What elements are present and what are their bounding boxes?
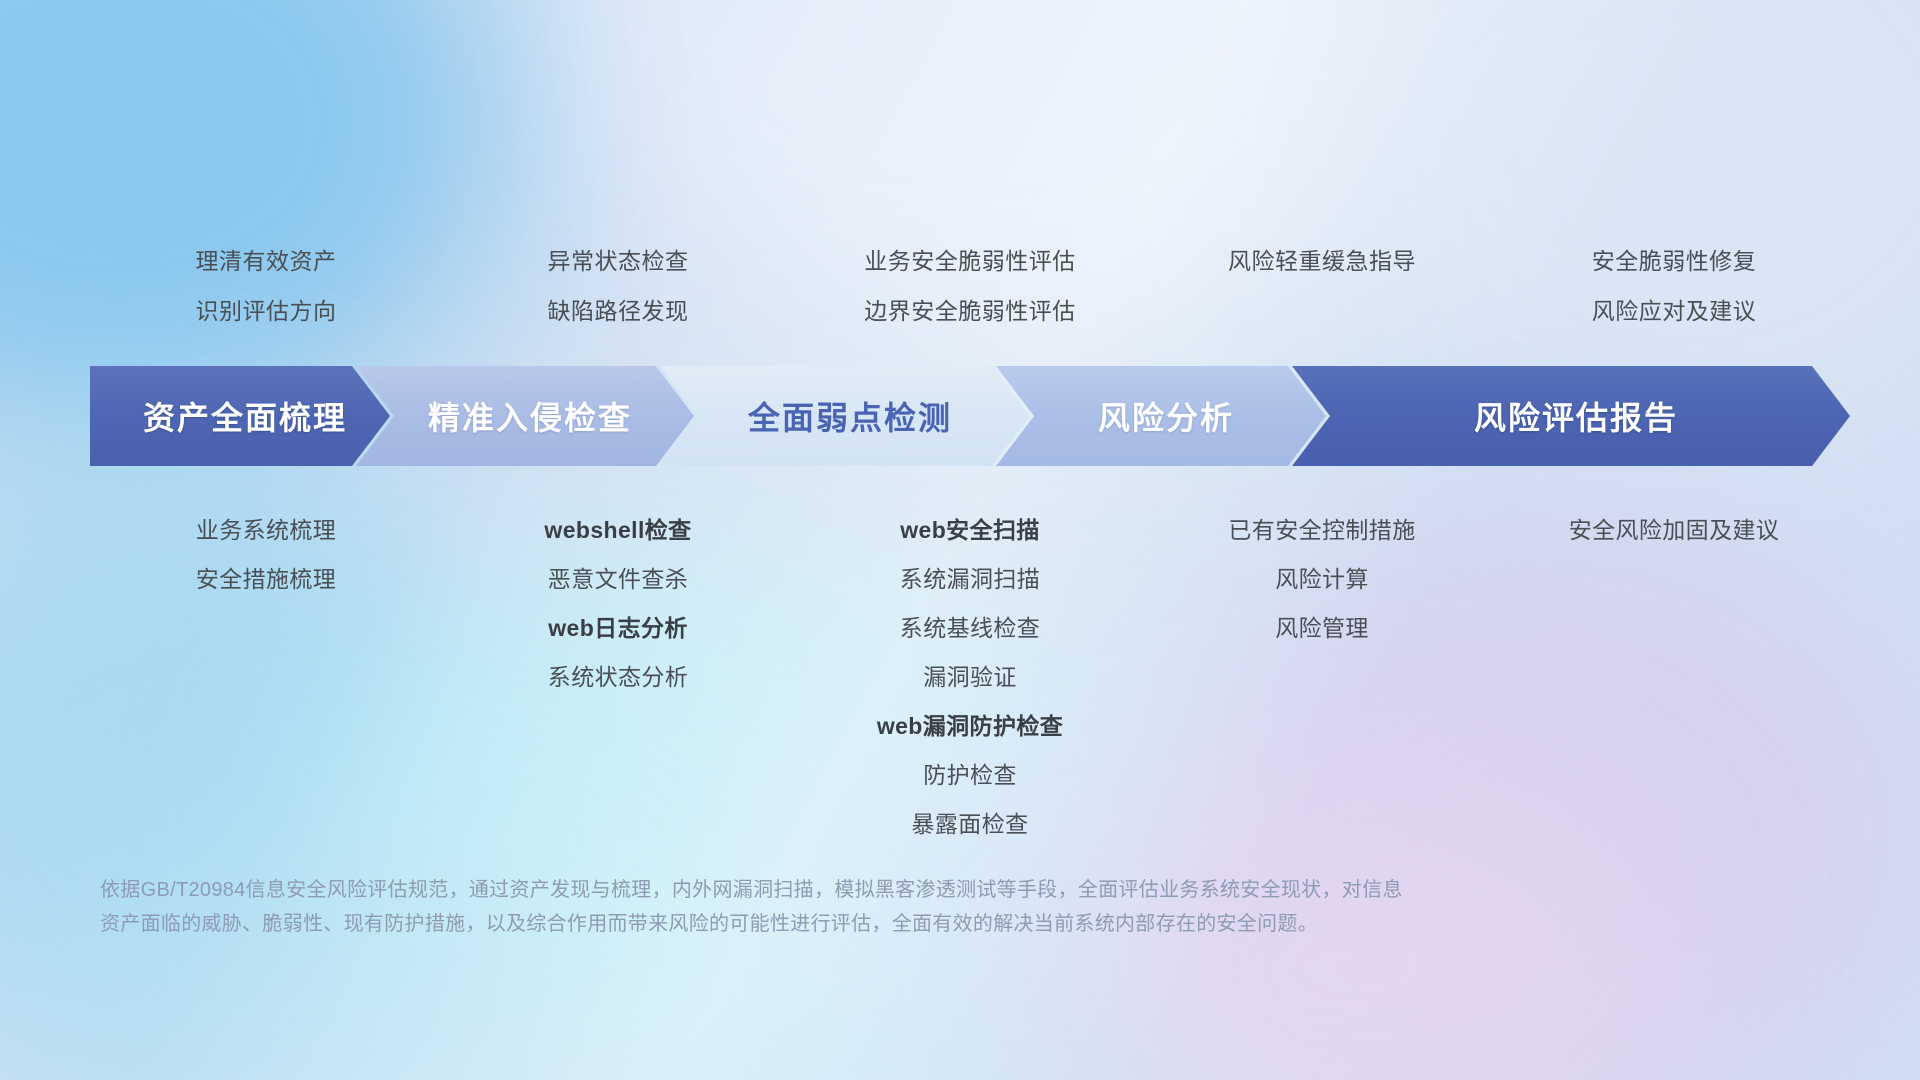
footer-description: 依据GB/T20984信息安全风险评估规范，通过资产发现与梳理，内外网漏洞扫描，…	[100, 873, 1660, 941]
bottom-caption-line: 漏洞验证	[794, 653, 1146, 702]
top-caption-group-4: 风险轻重缓急指导	[1146, 236, 1498, 286]
bottom-caption-line: 业务系统梳理	[90, 506, 442, 555]
bottom-caption-line: web安全扫描	[794, 506, 1146, 555]
bottom-caption-line: 恶意文件查杀	[442, 555, 794, 604]
footer-line-1: 依据GB/T20984信息安全风险评估规范，通过资产发现与梳理，内外网漏洞扫描，…	[100, 873, 1660, 907]
bottom-caption-line: 风险计算	[1146, 555, 1498, 604]
top-caption-line: 边界安全脆弱性评估	[794, 286, 1146, 336]
bottom-caption-group-1: 业务系统梳理 安全措施梳理	[90, 506, 442, 604]
top-caption-line: 理清有效资产	[90, 236, 442, 286]
top-caption-line: 识别评估方向	[90, 286, 442, 336]
stage-arrow-label: 风险分析	[1088, 393, 1234, 439]
bottom-caption-line: 安全风险加固及建议	[1498, 506, 1850, 555]
bottom-caption-line: 已有安全控制措施	[1146, 506, 1498, 555]
stage-arrow-intrusion-check[interactable]: 精准入侵检查	[356, 366, 694, 466]
stage-arrow-label: 全面弱点检测	[738, 393, 952, 439]
bottom-caption-group-3: web安全扫描 系统漏洞扫描 系统基线检查 漏洞验证 web漏洞防护检查 防护检…	[794, 506, 1146, 849]
top-caption-line: 安全脆弱性修复	[1498, 236, 1850, 286]
bottom-caption-line: web日志分析	[442, 604, 794, 653]
top-caption-line: 风险轻重缓急指导	[1146, 236, 1498, 286]
top-caption-line: 业务安全脆弱性评估	[794, 236, 1146, 286]
top-caption-group-3: 业务安全脆弱性评估 边界安全脆弱性评估	[794, 236, 1146, 336]
bottom-caption-line: 风险管理	[1146, 604, 1498, 653]
stage-arrow-weakness-detection[interactable]: 全面弱点检测	[660, 366, 1030, 466]
bottom-caption-group-2: webshell检查 恶意文件查杀 web日志分析 系统状态分析	[442, 506, 794, 702]
top-caption-group-2: 异常状态检查 缺陷路径发现	[442, 236, 794, 336]
top-caption-line: 异常状态检查	[442, 236, 794, 286]
stage-arrow-asset-inventory[interactable]: 资产全面梳理	[90, 366, 390, 466]
bottom-caption-line: webshell检查	[442, 506, 794, 555]
stage-arrow-label: 精准入侵检查	[418, 393, 632, 439]
top-caption-line: 缺陷路径发现	[442, 286, 794, 336]
top-caption-band: 理清有效资产 识别评估方向 异常状态检查 缺陷路径发现 业务安全脆弱性评估 边界…	[90, 236, 1850, 336]
top-caption-group-1: 理清有效资产 识别评估方向	[90, 236, 442, 336]
bottom-caption-line: 系统状态分析	[442, 653, 794, 702]
bottom-caption-line: 安全措施梳理	[90, 555, 442, 604]
bottom-caption-group-5: 安全风险加固及建议	[1498, 506, 1850, 555]
process-diagram: 理清有效资产 识别评估方向 异常状态检查 缺陷路径发现 业务安全脆弱性评估 边界…	[0, 0, 1920, 1080]
bottom-caption-line: web漏洞防护检查	[794, 702, 1146, 751]
footer-line-2: 资产面临的威胁、脆弱性、现有防护措施，以及综合作用而带来风险的可能性进行评估，全…	[100, 907, 1660, 941]
stage-arrow-row: 资产全面梳理 精准入侵检查 全面弱点检测 风险分析 风险评估报告	[90, 366, 1850, 466]
top-caption-line: 风险应对及建议	[1498, 286, 1850, 336]
bottom-caption-line: 暴露面检查	[794, 800, 1146, 849]
bottom-caption-line: 系统漏洞扫描	[794, 555, 1146, 604]
bottom-caption-line: 防护检查	[794, 751, 1146, 800]
bottom-caption-line: 系统基线检查	[794, 604, 1146, 653]
bottom-caption-group-4: 已有安全控制措施 风险计算 风险管理	[1146, 506, 1498, 653]
stage-arrow-risk-report[interactable]: 风险评估报告	[1292, 366, 1850, 466]
bottom-caption-band: 业务系统梳理 安全措施梳理 webshell检查 恶意文件查杀 web日志分析 …	[90, 506, 1850, 849]
top-caption-group-5: 安全脆弱性修复 风险应对及建议	[1498, 236, 1850, 336]
stage-arrow-risk-analysis[interactable]: 风险分析	[996, 366, 1326, 466]
stage-arrow-label: 资产全面梳理	[133, 393, 347, 439]
stage-arrow-label: 风险评估报告	[1464, 393, 1678, 439]
